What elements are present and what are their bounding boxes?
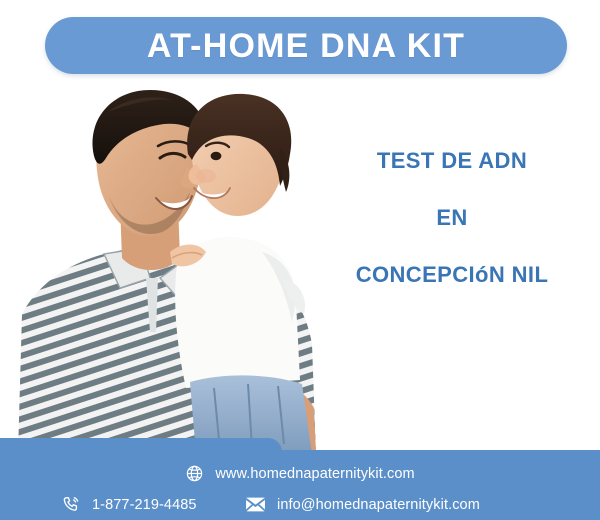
headline-line-2: EN <box>316 207 588 229</box>
father-holding-toddler-photo <box>0 82 330 454</box>
email-text: info@homednapaternitykit.com <box>277 497 480 513</box>
page-title: AT-HOME DNA KIT <box>147 29 465 63</box>
photo-illustration <box>0 82 330 454</box>
headline-block: TEST DE ADN EN CONCEPCIóN NIL <box>316 150 588 286</box>
email-row[interactable]: info@homednapaternitykit.com <box>245 495 480 514</box>
headline-line-3: CONCEPCIóN NIL <box>316 264 588 286</box>
poster-canvas: AT-HOME DNA KIT <box>0 0 600 520</box>
footer-contact-bar: www.homednapaternitykit.com 1-877-219-44… <box>0 438 600 520</box>
phone-text: 1-877-219-4485 <box>92 497 197 513</box>
website-text: www.homednapaternitykit.com <box>215 466 414 482</box>
website-row[interactable]: www.homednapaternitykit.com <box>0 464 600 483</box>
phone-icon <box>62 495 81 514</box>
phone-row[interactable]: 1-877-219-4485 <box>62 495 197 514</box>
headline-line-1: TEST DE ADN <box>316 150 588 172</box>
footer-content: www.homednapaternitykit.com 1-877-219-44… <box>0 450 600 520</box>
header-banner: AT-HOME DNA KIT <box>45 17 567 74</box>
globe-icon <box>185 464 204 483</box>
envelope-icon <box>245 495 266 514</box>
